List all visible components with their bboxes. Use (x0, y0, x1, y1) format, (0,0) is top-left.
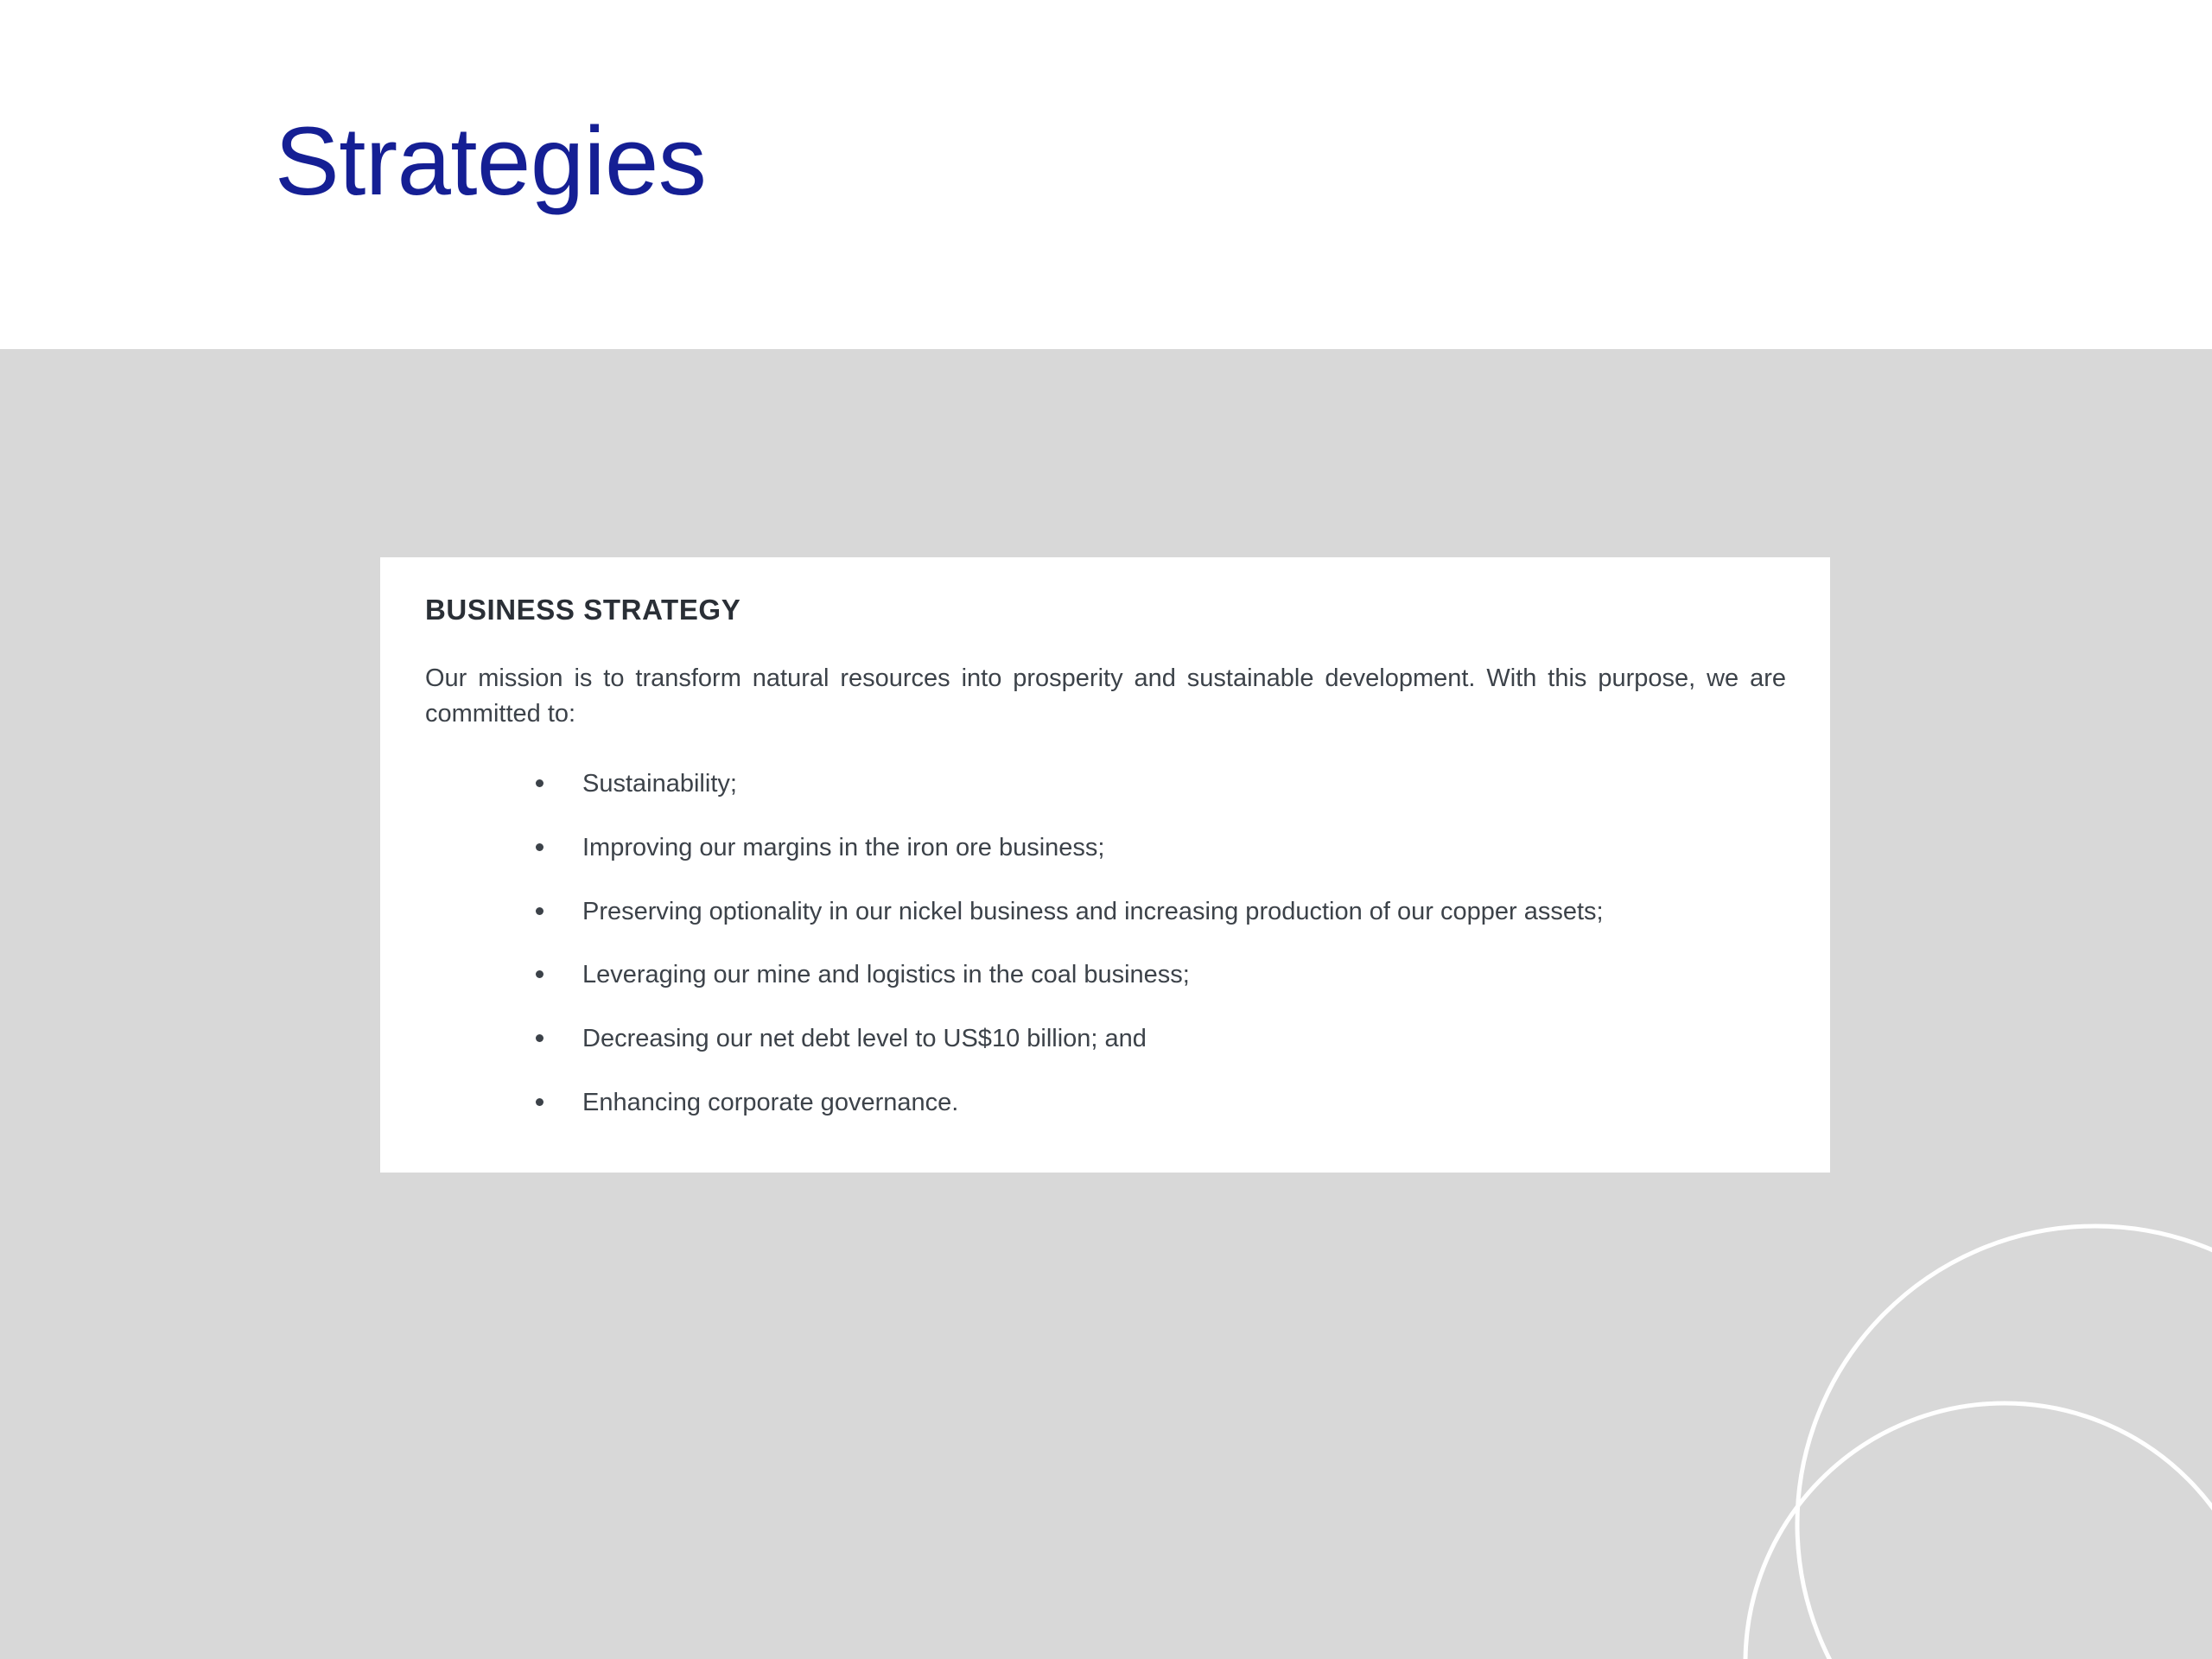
bullet-dot-icon (536, 1034, 543, 1042)
list-item: Sustainability; (425, 768, 1785, 801)
bullet-dot-icon (536, 779, 543, 787)
card-intro-paragraph: Our mission is to transform natural reso… (425, 661, 1786, 732)
bullet-dot-icon (536, 970, 543, 978)
bullet-dot-icon (536, 843, 543, 851)
list-item-label: Enhancing corporate governance. (582, 1089, 958, 1116)
list-item: Preserving optionality in our nickel bus… (425, 896, 1785, 929)
slide-header-band: Strategies (0, 0, 2212, 349)
card-heading: BUSINESS STRATEGY (425, 594, 1785, 626)
decor-circle-large-icon (1797, 1226, 2212, 1659)
bullet-dot-icon (536, 907, 543, 915)
list-item: Enhancing corporate governance. (425, 1087, 1785, 1120)
business-strategy-card: BUSINESS STRATEGY Our mission is to tran… (380, 557, 1830, 1173)
bullet-dot-icon (536, 1098, 543, 1106)
strategy-bullet-list: Sustainability; Improving our margins in… (425, 768, 1785, 1119)
list-item: Improving our margins in the iron ore bu… (425, 832, 1785, 865)
page-title: Strategies (275, 111, 706, 213)
list-item-label: Decreasing our net debt level to US$10 b… (582, 1025, 1147, 1052)
list-item-label: Improving our margins in the iron ore bu… (582, 834, 1104, 861)
list-item-label: Preserving optionality in our nickel bus… (582, 898, 1604, 925)
presentation-slide: { "slide": { "title": "Strategies", "tit… (0, 0, 2212, 1659)
list-item: Leveraging our mine and logistics in the… (425, 959, 1785, 992)
decor-circle-small-icon (1745, 1403, 2212, 1659)
list-item-label: Sustainability; (582, 770, 737, 798)
list-item-label: Leveraging our mine and logistics in the… (582, 961, 1190, 988)
list-item: Decreasing our net debt level to US$10 b… (425, 1023, 1785, 1056)
